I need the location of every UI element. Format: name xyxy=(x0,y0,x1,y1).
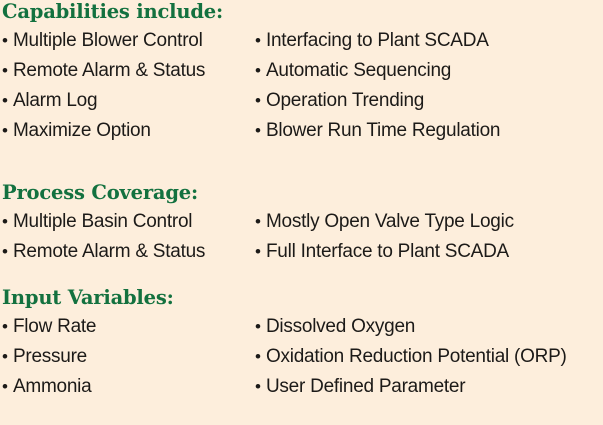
list-item-label: Dissolved Oxygen xyxy=(266,313,415,340)
list-item-label: User Defined Parameter xyxy=(266,373,465,400)
bullet-icon: • xyxy=(2,57,8,84)
section-heading-input-variables: Input Variables: xyxy=(2,286,603,310)
list-item-label: Pressure xyxy=(13,343,87,370)
bullet-icon: • xyxy=(2,208,8,235)
bullet-icon: • xyxy=(2,27,8,54)
bullet-icon: • xyxy=(255,117,261,144)
bullet-icon: • xyxy=(255,87,261,114)
list-item-label: Ammonia xyxy=(13,373,92,400)
list-item-process-left-2: • Remote Alarm & Status xyxy=(2,238,205,265)
list-item-process-right-2: • Full Interface to Plant SCADA xyxy=(255,238,509,265)
section-heading-capabilities: Capabilities include: xyxy=(2,0,603,24)
list-item-label: Remote Alarm & Status xyxy=(13,57,205,84)
list-item-capabilities-left-3: • Alarm Log xyxy=(2,87,97,114)
section-heading-process-coverage: Process Coverage: xyxy=(2,181,603,205)
bullet-row: • Alarm Log • Operation Trending xyxy=(0,87,603,117)
list-item-capabilities-right-3: • Operation Trending xyxy=(255,87,424,114)
bullet-rows-input-variables: • Flow Rate • Dissolved Oxygen • Pressur… xyxy=(0,313,603,403)
bullet-icon: • xyxy=(255,27,261,54)
list-item-label: Automatic Sequencing xyxy=(266,57,451,84)
bullet-icon: • xyxy=(255,57,261,84)
bullet-icon: • xyxy=(2,117,8,144)
list-item-label: Mostly Open Valve Type Logic xyxy=(266,208,514,235)
bullet-icon: • xyxy=(2,313,8,340)
bullet-row: • Multiple Basin Control • Mostly Open V… xyxy=(0,208,603,238)
bullet-row: • Maximize Option • Blower Run Time Regu… xyxy=(0,117,603,147)
list-item-capabilities-right-1: • Interfacing to Plant SCADA xyxy=(255,27,489,54)
section-input-variables: Input Variables: • Flow Rate • Dissolved… xyxy=(0,286,603,403)
list-item-label: Flow Rate xyxy=(13,313,96,340)
capabilities-slide: Capabilities include: • Multiple Blower … xyxy=(0,0,603,425)
list-item-capabilities-left-4: • Maximize Option xyxy=(2,117,151,144)
list-item-capabilities-right-4: • Blower Run Time Regulation xyxy=(255,117,500,144)
list-item-capabilities-left-2: • Remote Alarm & Status xyxy=(2,57,205,84)
list-item-input-left-1: • Flow Rate xyxy=(2,313,96,340)
list-item-process-right-1: • Mostly Open Valve Type Logic xyxy=(255,208,514,235)
bullet-icon: • xyxy=(2,343,8,370)
list-item-input-right-2: • Oxidation Reduction Potential (ORP) xyxy=(255,343,567,370)
bullet-rows-capabilities: • Multiple Blower Control • Interfacing … xyxy=(0,27,603,147)
list-item-label: Operation Trending xyxy=(266,87,424,114)
bullet-row: • Ammonia • User Defined Parameter xyxy=(0,373,603,403)
bullet-icon: • xyxy=(255,208,261,235)
list-item-label: Multiple Blower Control xyxy=(13,27,203,54)
list-item-label: Interfacing to Plant SCADA xyxy=(266,27,489,54)
bullet-row: • Remote Alarm & Status • Automatic Sequ… xyxy=(0,57,603,87)
list-item-label: Remote Alarm & Status xyxy=(13,238,205,265)
list-item-label: Full Interface to Plant SCADA xyxy=(266,238,509,265)
bullet-icon: • xyxy=(2,238,8,265)
list-item-input-right-1: • Dissolved Oxygen xyxy=(255,313,415,340)
list-item-input-left-3: • Ammonia xyxy=(2,373,91,400)
list-item-label: Oxidation Reduction Potential (ORP) xyxy=(266,343,567,370)
bullet-row: • Multiple Blower Control • Interfacing … xyxy=(0,27,603,57)
list-item-capabilities-right-2: • Automatic Sequencing xyxy=(255,57,451,84)
list-item-label: Multiple Basin Control xyxy=(13,208,192,235)
list-item-input-left-2: • Pressure xyxy=(2,343,87,370)
bullet-row: • Pressure • Oxidation Reduction Potenti… xyxy=(0,343,603,373)
bullet-icon: • xyxy=(255,238,261,265)
bullet-row: • Remote Alarm & Status • Full Interface… xyxy=(0,238,603,268)
bullet-rows-process-coverage: • Multiple Basin Control • Mostly Open V… xyxy=(0,208,603,268)
list-item-label: Maximize Option xyxy=(13,117,151,144)
bullet-icon: • xyxy=(2,87,8,114)
section-process-coverage: Process Coverage: • Multiple Basin Contr… xyxy=(0,181,603,268)
list-item-capabilities-left-1: • Multiple Blower Control xyxy=(2,27,203,54)
list-item-input-right-3: • User Defined Parameter xyxy=(255,373,465,400)
bullet-icon: • xyxy=(255,313,261,340)
bullet-icon: • xyxy=(255,343,261,370)
list-item-process-left-1: • Multiple Basin Control xyxy=(2,208,192,235)
bullet-row: • Flow Rate • Dissolved Oxygen xyxy=(0,313,603,343)
section-capabilities: Capabilities include: • Multiple Blower … xyxy=(0,0,603,147)
bullet-icon: • xyxy=(2,373,8,400)
bullet-icon: • xyxy=(255,373,261,400)
list-item-label: Blower Run Time Regulation xyxy=(266,117,500,144)
list-item-label: Alarm Log xyxy=(13,87,97,114)
